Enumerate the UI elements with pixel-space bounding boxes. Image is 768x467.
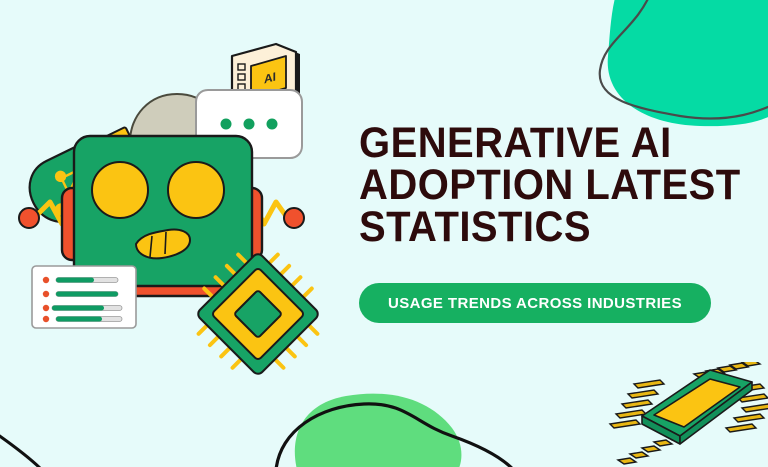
chat-dot: [267, 119, 278, 130]
robot-eye-right: [168, 162, 224, 218]
blob-teal-top-right: [608, 0, 768, 126]
chat-dot: [244, 119, 255, 130]
checklist-card: [32, 266, 136, 328]
subtitle-label: Usage Trends Across Industries: [388, 295, 682, 312]
title-line-3: Statistics: [359, 206, 694, 248]
antenna-left-knob: [19, 208, 39, 228]
robot-eye-left: [92, 162, 148, 218]
blob-green-bottom-center: [295, 394, 462, 467]
antenna-right-knob: [284, 208, 304, 228]
curve-line-bottom-left: [0, 432, 42, 467]
ai-robot-illustration: AI TEST: [10, 38, 340, 388]
chip-large-icon: [606, 362, 768, 467]
chat-dot: [221, 119, 232, 130]
curve-line-top-right: [600, 0, 768, 119]
subtitle-pill: Usage Trends Across Industries: [359, 283, 711, 323]
headline-block: Generative AI Adoption Latest Statistics: [359, 122, 719, 248]
title-line-2: Adoption Latest: [359, 164, 694, 206]
title-line-1: Generative AI: [359, 122, 694, 164]
poster-canvas: AI TEST: [0, 0, 768, 467]
page-title: Generative AI Adoption Latest Statistics: [359, 122, 694, 248]
checklist-row: [43, 305, 122, 311]
curve-line-bottom-center: [276, 404, 520, 467]
